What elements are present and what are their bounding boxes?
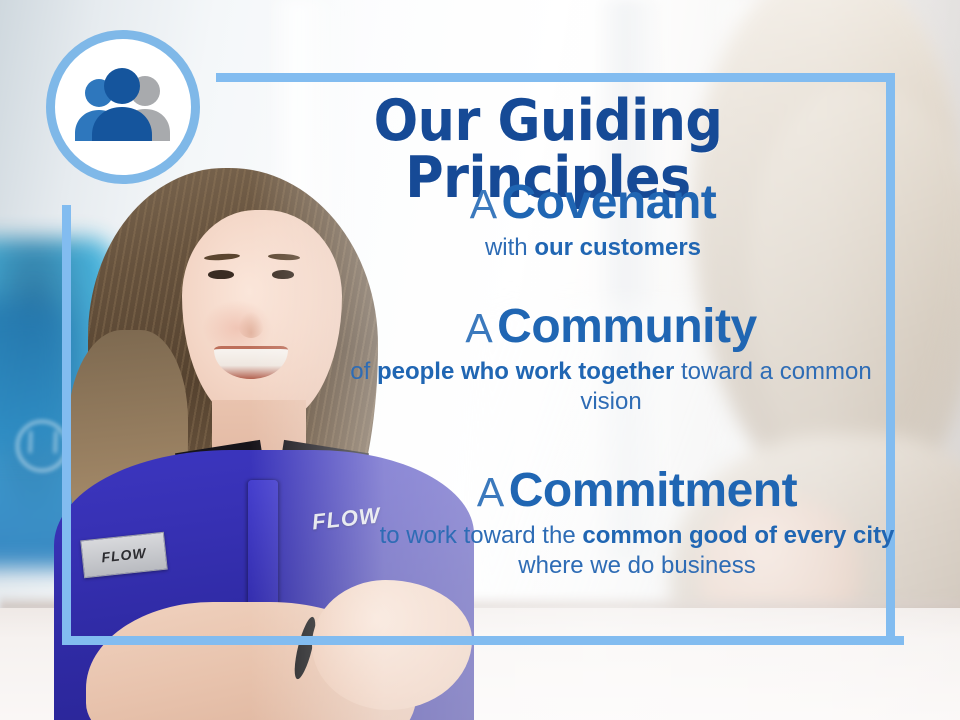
principle-article: A: [465, 305, 492, 351]
body-pre: to work toward the: [380, 522, 583, 549]
principle-community: A Community of people who work together …: [318, 302, 904, 418]
people-group-icon-badge: [46, 30, 200, 184]
principle-covenant-body: with our customers: [300, 233, 886, 263]
principle-article: A: [477, 469, 504, 515]
body-post: where we do business: [518, 552, 755, 579]
principle-keyword: Covenant: [502, 176, 717, 229]
people-group-icon: [69, 67, 177, 147]
principle-covenant: A Covenant with our customers: [300, 178, 886, 263]
principle-keyword: Commitment: [509, 464, 797, 517]
name-badge-logo-text: FLOW: [101, 545, 148, 566]
blurred-vehicle-emblem: [16, 420, 68, 472]
employee-eye-left: [208, 270, 234, 279]
principle-covenant-title: A Covenant: [300, 178, 886, 229]
body-pre: with: [485, 234, 534, 261]
principle-keyword: Community: [497, 300, 757, 353]
body-pre: of: [350, 358, 377, 385]
body-bold: people who work together: [377, 358, 674, 385]
principle-community-body: of people who work together toward a com…: [318, 357, 904, 418]
employee-nose: [238, 312, 264, 338]
employee-shirt-placket: [248, 480, 278, 610]
principle-article: A: [470, 181, 497, 227]
employee-eye-right: [272, 270, 294, 279]
body-bold: common good of every city: [582, 522, 894, 549]
principle-commitment-title: A Commitment: [344, 466, 930, 517]
principle-community-title: A Community: [318, 302, 904, 353]
principle-commitment: A Commitment to work toward the common g…: [344, 466, 930, 582]
guiding-principles-poster: FLOW FLOW: [0, 0, 960, 720]
principle-commitment-body: to work toward the common good of every …: [344, 521, 930, 582]
body-bold: our customers: [534, 234, 701, 261]
